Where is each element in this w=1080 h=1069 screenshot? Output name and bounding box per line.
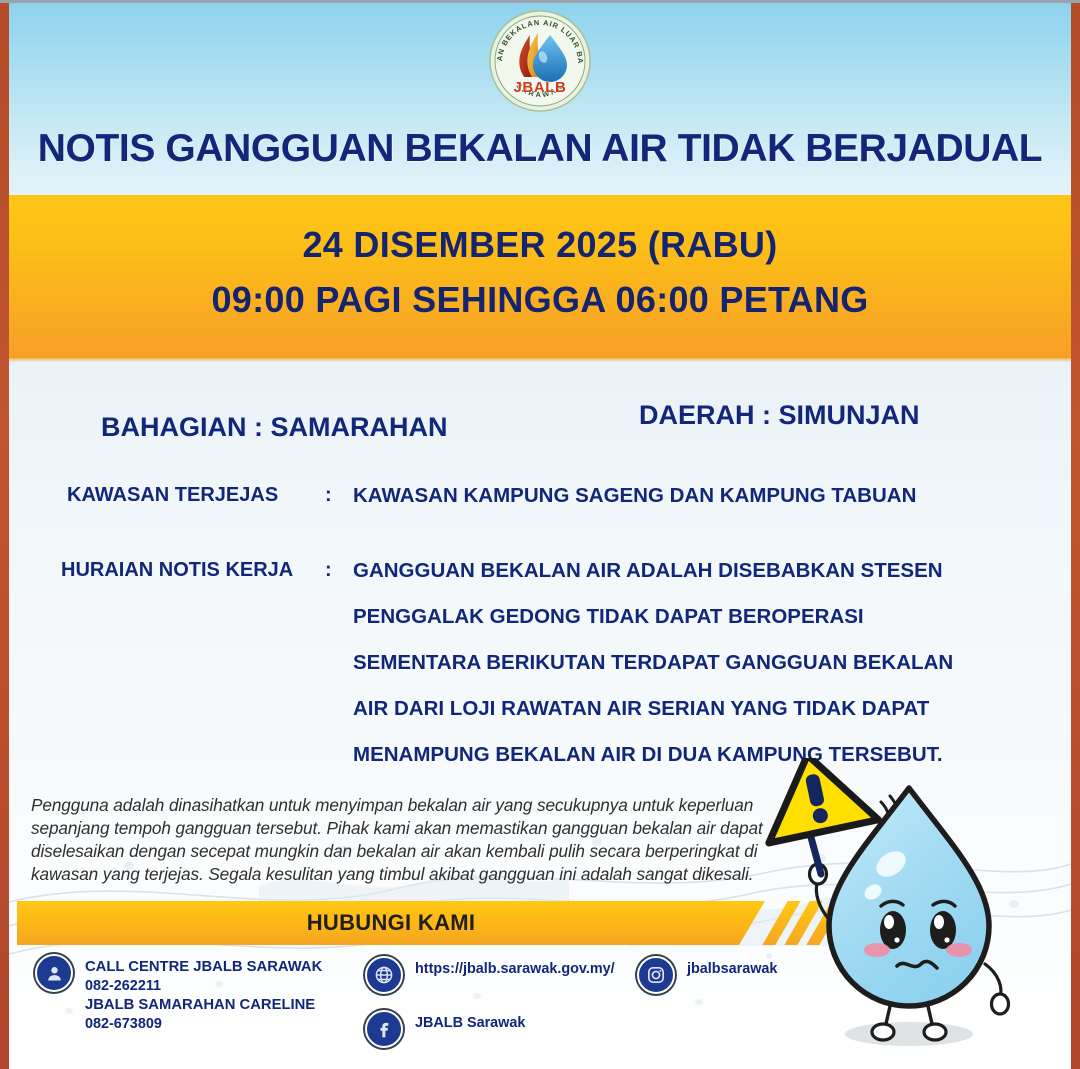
- left-border: [0, 0, 9, 1069]
- daerah-text: DAERAH : SIMUNJAN: [639, 400, 920, 431]
- person-icon: [35, 954, 73, 992]
- contact-call-centre[interactable]: CALL CENTRE JBALB SARAWAK 082-262211 JBA…: [35, 954, 322, 1034]
- top-edge-divider: [0, 0, 1080, 3]
- location-row: BAHAGIAN : SAMARAHAN DAERAH : SIMUNJAN: [9, 390, 1071, 450]
- hubungi-kami-label: HUBUNGI KAMI: [307, 910, 476, 936]
- kawasan-colon: :: [325, 484, 332, 507]
- instagram-icon: [637, 956, 675, 994]
- svg-text:JBALB: JBALB: [513, 79, 566, 96]
- facebook-icon: [365, 1010, 403, 1048]
- careline-number: 082-673809: [85, 1015, 322, 1034]
- careline-name: JBALB SAMARAHAN CARELINE: [85, 996, 322, 1015]
- facebook-handle[interactable]: JBALB Sarawak: [415, 1010, 525, 1033]
- huraian-notis-kerja-label: HURAIAN NOTIS KERJA: [61, 559, 293, 582]
- contact-facebook[interactable]: JBALB Sarawak: [365, 1010, 525, 1048]
- call-centre-name: CALL CENTRE JBALB SARAWAK: [85, 958, 322, 977]
- notice-date: 24 DISEMBER 2025 (RABU): [9, 224, 1071, 266]
- huraian-line: AIR DARI LOJI RAWATAN AIR SERIAN YANG TI…: [353, 697, 953, 721]
- right-border: [1071, 0, 1080, 1069]
- huraian-colon: :: [325, 559, 332, 582]
- website-url[interactable]: https://jbalb.sarawak.gov.my/: [415, 956, 615, 979]
- poster-header: JABATAN BEKALAN AIR LUAR BANDAR SARAWAK …: [9, 3, 1071, 195]
- globe-icon: [365, 956, 403, 994]
- jbalb-logo: JABATAN BEKALAN AIR LUAR BANDAR SARAWAK …: [488, 9, 592, 113]
- contact-website[interactable]: https://jbalb.sarawak.gov.my/: [365, 956, 615, 994]
- notice-time: 09:00 PAGI SEHINGGA 06:00 PETANG: [9, 279, 1071, 321]
- water-droplet-mascot: [757, 758, 1057, 1058]
- hubungi-kami-banner: HUBUNGI KAMI: [17, 901, 765, 945]
- huraian-line: PENGGALAK GEDONG TIDAK DAPAT BEROPERASI: [353, 605, 953, 629]
- call-centre-text: CALL CENTRE JBALB SARAWAK 082-262211 JBA…: [85, 954, 322, 1034]
- call-centre-number: 082-262211: [85, 977, 322, 996]
- poster-body: BAHAGIAN : SAMARAHAN DAERAH : SIMUNJAN K…: [9, 362, 1071, 1066]
- kawasan-terjejas-value: KAWASAN KAMPUNG SAGENG DAN KAMPUNG TABUA…: [353, 484, 916, 508]
- page-title: NOTIS GANGGUAN BEKALAN AIR TIDAK BERJADU…: [9, 127, 1071, 171]
- notice-poster: JABATAN BEKALAN AIR LUAR BANDAR SARAWAK …: [0, 0, 1080, 1069]
- bahagian-text: BAHAGIAN : SAMARAHAN: [101, 412, 447, 443]
- huraian-notis-kerja-value: GANGGUAN BEKALAN AIR ADALAH DISEBABKAN S…: [353, 559, 953, 789]
- huraian-line: SEMENTARA BERIKUTAN TERDAPAT GANGGUAN BE…: [353, 651, 953, 675]
- kawasan-terjejas-label: KAWASAN TERJEJAS: [67, 484, 278, 507]
- advisory-paragraph: Pengguna adalah dinasihatkan untuk menyi…: [31, 794, 783, 886]
- huraian-line: GANGGUAN BEKALAN AIR ADALAH DISEBABKAN S…: [353, 559, 953, 583]
- date-time-band: 24 DISEMBER 2025 (RABU) 09:00 PAGI SEHIN…: [9, 195, 1071, 358]
